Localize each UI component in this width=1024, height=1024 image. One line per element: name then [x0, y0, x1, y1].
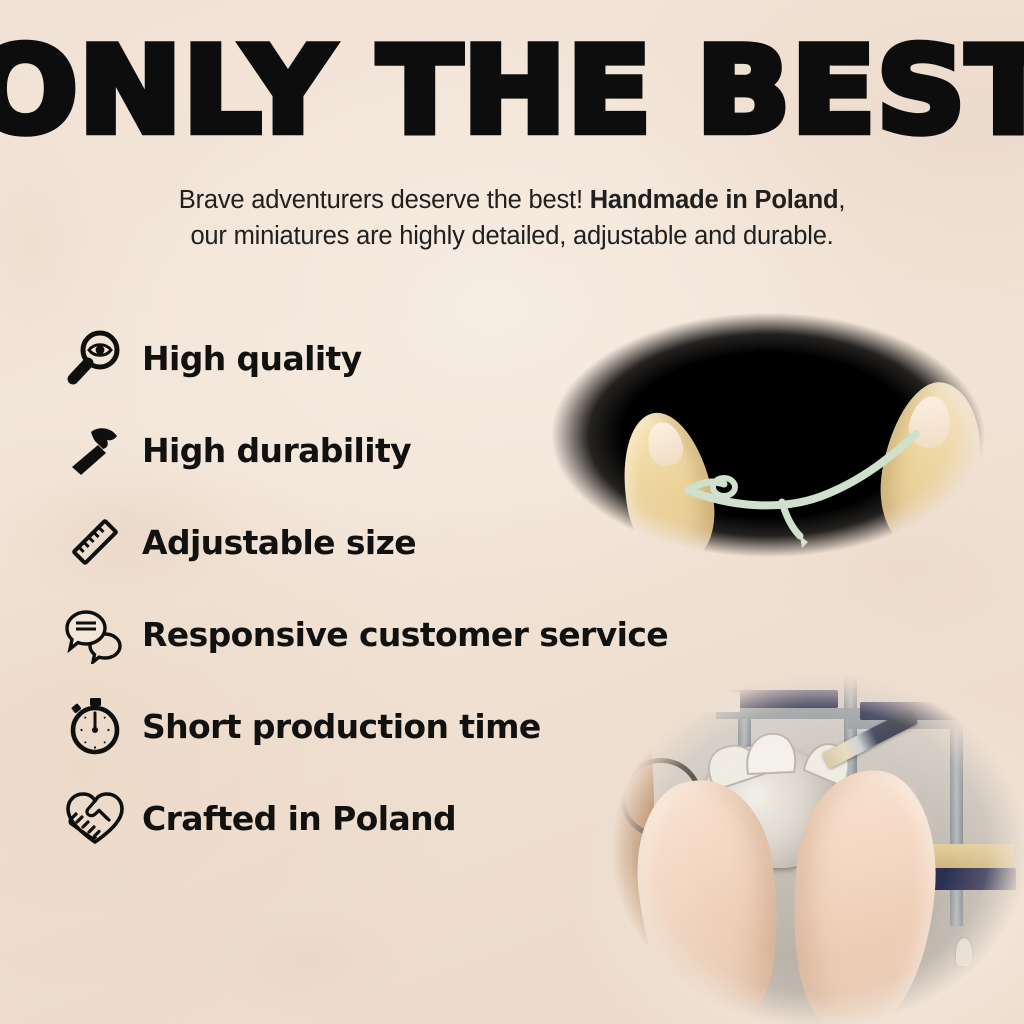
subtitle: Brave adventurers deserve the best! Hand… [82, 182, 942, 254]
feature-label: High durability [142, 434, 411, 467]
feature-label: Adjustable size [142, 526, 416, 559]
feature-item: High quality [64, 312, 764, 404]
feature-list: High quality High durability Adj [64, 312, 764, 864]
magnifier-eye-icon [64, 327, 126, 389]
feature-label: Responsive customer service [142, 618, 668, 651]
ruler-icon [64, 511, 126, 573]
feature-item: High durability [64, 404, 764, 496]
feature-label: Crafted in Poland [142, 802, 456, 835]
subtitle-lead: Brave adventurers deserve the best! [179, 186, 590, 214]
feature-item: Crafted in Poland [64, 772, 764, 864]
title-block: ONLY THE BEST [0, 38, 1024, 144]
infographic-page: ONLY THE BEST Brave adventurers deserve … [0, 0, 1024, 1024]
speech-bubbles-icon [64, 603, 126, 665]
small-miniature [956, 938, 972, 966]
feature-label: High quality [142, 342, 362, 375]
subtitle-line-2: our miniatures are highly detailed, adju… [190, 222, 833, 250]
feature-item: Short production time [64, 680, 764, 772]
feature-label: Short production time [142, 710, 541, 743]
feature-item: Adjustable size [64, 496, 764, 588]
handshake-heart-icon [64, 787, 126, 849]
page-title: ONLY THE BEST [0, 35, 1024, 148]
stopwatch-icon [64, 695, 126, 757]
subtitle-tail: , [838, 186, 845, 214]
feature-item: Responsive customer service [64, 588, 764, 680]
hammer-icon [64, 419, 126, 481]
subtitle-highlight: Handmade in Poland [590, 186, 839, 214]
